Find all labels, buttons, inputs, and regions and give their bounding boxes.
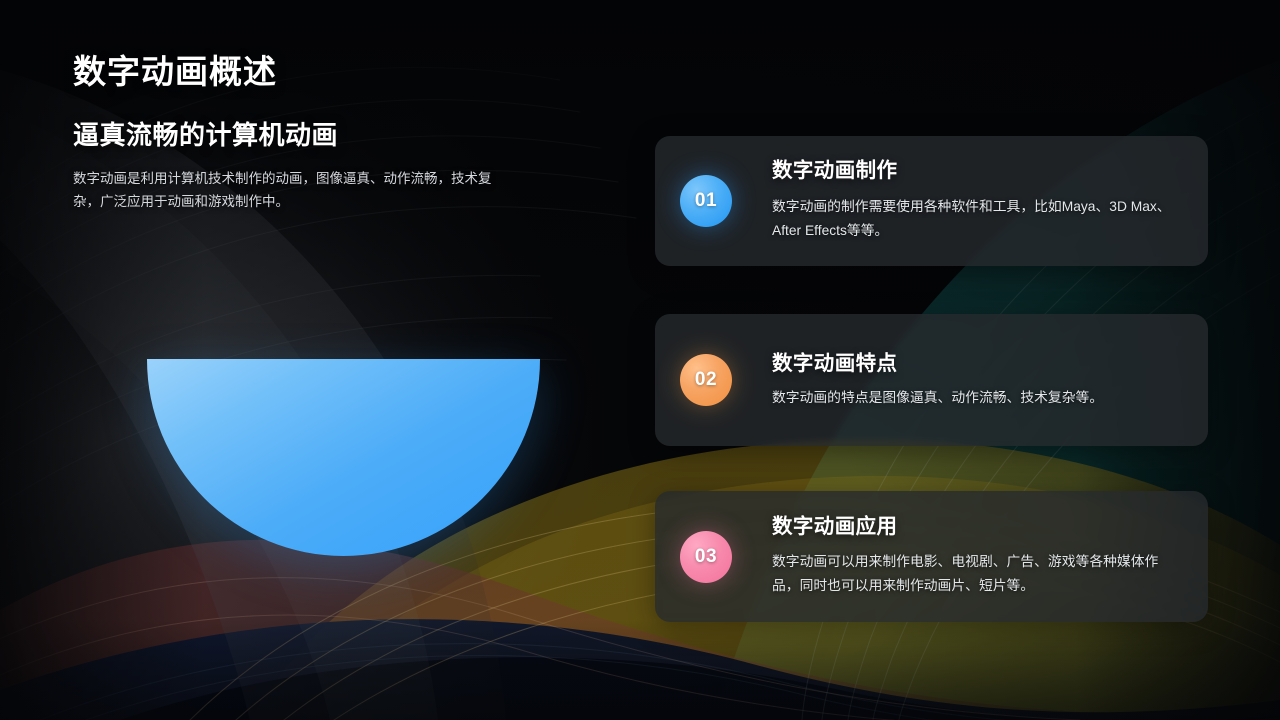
- feature-card-03[interactable]: 03 数字动画应用 数字动画可以用来制作电影、电视剧、广告、游戏等各种媒体作品，…: [655, 491, 1208, 622]
- feature-card-list: 01 数字动画制作 数字动画的制作需要使用各种软件和工具，比如Maya、3D M…: [655, 136, 1208, 622]
- card-title-01: 数字动画制作: [772, 159, 1172, 184]
- card-text-02: 数字动画的特点是图像逼真、动作流畅、技术复杂等。: [772, 386, 1172, 410]
- card-body-02: 数字动画特点 数字动画的特点是图像逼真、动作流畅、技术复杂等。: [772, 352, 1180, 411]
- slide-root: 数字动画概述 逼真流畅的计算机动画 数字动画是利用计算机技术制作的动画，图像逼真…: [0, 0, 1280, 720]
- feature-card-01[interactable]: 01 数字动画制作 数字动画的制作需要使用各种软件和工具，比如Maya、3D M…: [655, 136, 1208, 266]
- card-text-01: 数字动画的制作需要使用各种软件和工具，比如Maya、3D Max、After E…: [772, 195, 1172, 243]
- left-text-column: 数字动画概述 逼真流畅的计算机动画 数字动画是利用计算机技术制作的动画，图像逼真…: [73, 52, 543, 213]
- blue-half-disc-shape: [147, 359, 540, 556]
- card-body-01: 数字动画制作 数字动画的制作需要使用各种软件和工具，比如Maya、3D Max、…: [772, 159, 1180, 243]
- card-title-03: 数字动画应用: [772, 515, 1172, 540]
- card-number-badge-01: 01: [680, 175, 732, 227]
- card-text-03: 数字动画可以用来制作电影、电视剧、广告、游戏等各种媒体作品，同时也可以用来制作动…: [772, 550, 1172, 598]
- page-description: 数字动画是利用计算机技术制作的动画，图像逼真、动作流畅，技术复杂，广泛应用于动画…: [73, 167, 505, 213]
- card-body-03: 数字动画应用 数字动画可以用来制作电影、电视剧、广告、游戏等各种媒体作品，同时也…: [772, 515, 1180, 599]
- card-number-badge-02: 02: [680, 354, 732, 406]
- page-subtitle: 逼真流畅的计算机动画: [73, 119, 543, 152]
- card-title-02: 数字动画特点: [772, 352, 1172, 377]
- page-title: 数字动画概述: [73, 52, 543, 92]
- feature-card-02[interactable]: 02 数字动画特点 数字动画的特点是图像逼真、动作流畅、技术复杂等。: [655, 314, 1208, 446]
- card-number-badge-03: 03: [680, 531, 732, 583]
